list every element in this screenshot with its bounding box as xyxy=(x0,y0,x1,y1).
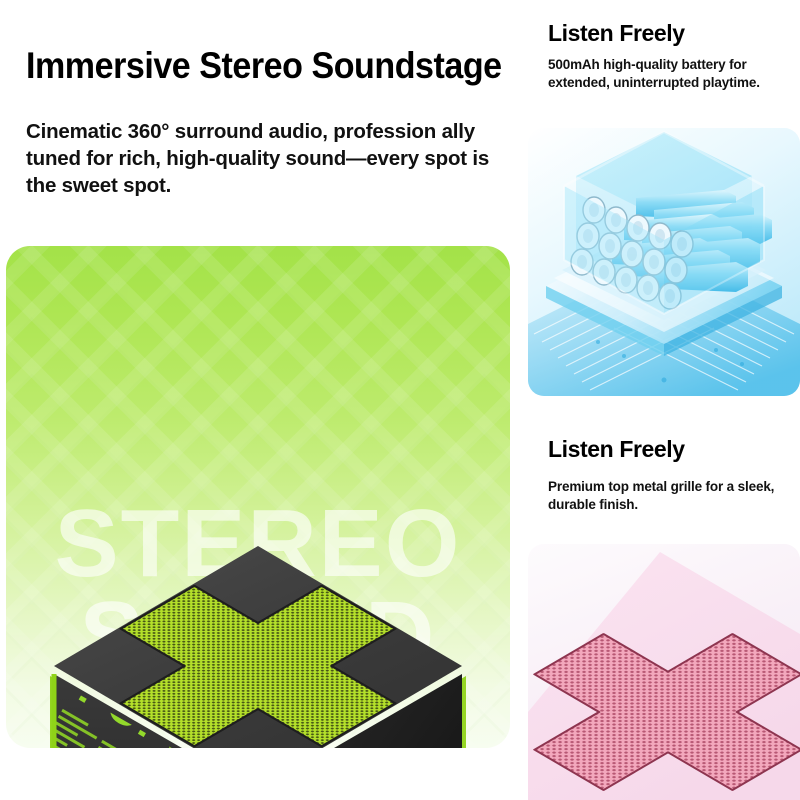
speaker-product-image: POPULAR MUSIC ENGINE xyxy=(6,246,510,748)
page-title: Immersive Stereo Soundstage xyxy=(26,44,477,88)
page-subtitle: Cinematic 360° surround audio, professio… xyxy=(26,118,518,199)
battery-cells-illustration xyxy=(528,128,800,396)
feature-heading-battery: Listen Freely xyxy=(548,20,685,47)
feature-body-battery: 500mAh high-quality battery for extended… xyxy=(548,56,784,91)
left-column: Immersive Stereo Soundstage Cinematic 36… xyxy=(0,0,520,800)
right-column: Listen Freely 500mAh high-quality batter… xyxy=(520,0,800,800)
product-hero-panel: STEREO SOUND xyxy=(6,246,510,748)
feature-body-grille: Premium top metal grille for a sleek, du… xyxy=(548,478,784,513)
battery-image-panel xyxy=(528,128,800,396)
feature-heading-grille: Listen Freely xyxy=(548,436,685,463)
pink-metal-grille-illustration xyxy=(528,544,800,800)
grille-image-panel xyxy=(528,544,800,800)
